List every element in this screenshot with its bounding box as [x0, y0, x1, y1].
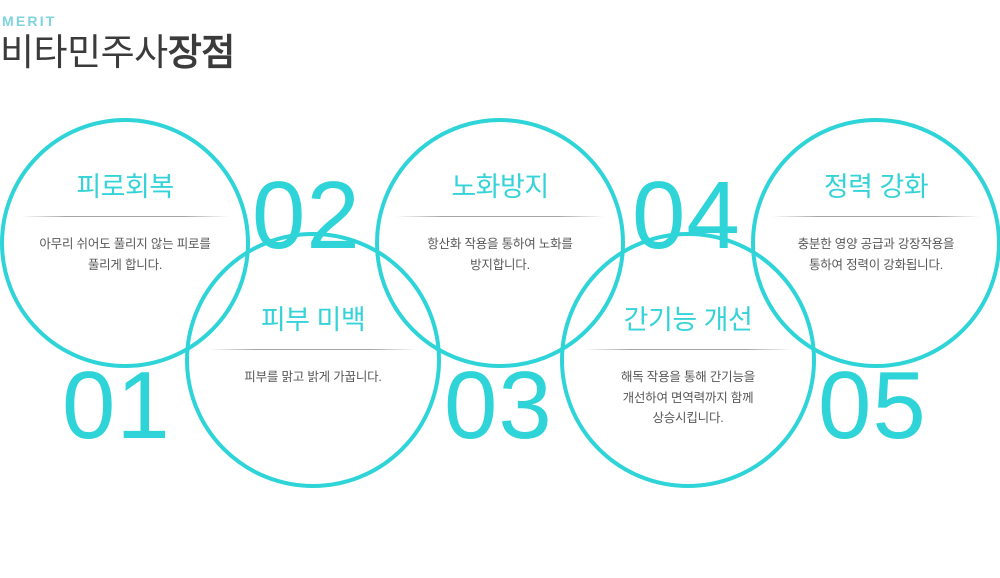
step-number-05: 05 — [818, 358, 927, 454]
benefit-description-4: 해독 작용을 통해 간기능을개선하여 면역력까지 함께상승시킵니다. — [572, 367, 804, 429]
benefit-card-2: 피부 미백 피부를 맑고 밝게 가꿉니다. — [198, 305, 428, 388]
benefit-title-5: 정력 강화 — [760, 172, 992, 203]
benefit-title-4: 간기능 개선 — [572, 305, 804, 336]
infographic-canvas: MERIT 비타민주사장점 01 02 03 04 05 피로회복 아무리 쉬어… — [0, 0, 1000, 578]
benefit-card-1: 피로회복 아무리 쉬어도 풀리지 않는 피로를풀리게 합니다. — [10, 172, 240, 275]
step-number-04: 04 — [632, 168, 741, 264]
step-number-02: 02 — [252, 168, 361, 264]
benefit-description-1: 아무리 쉬어도 풀리지 않는 피로를풀리게 합니다. — [10, 234, 240, 275]
benefit-description-3: 항산화 작용을 통하여 노화를방지합니다. — [385, 234, 615, 275]
benefit-title-2: 피부 미백 — [198, 305, 428, 336]
benefit-card-3: 노화방지 항산화 작용을 통하여 노화를방지합니다. — [385, 172, 615, 275]
benefit-title-1: 피로회복 — [10, 172, 240, 203]
benefit-card-5: 정력 강화 충분한 영양 공급과 강장작용을통하여 정력이 강화됩니다. — [760, 172, 992, 275]
benefit-divider-2 — [209, 349, 417, 350]
benefit-divider-3 — [396, 216, 604, 217]
benefit-description-5: 충분한 영양 공급과 강장작용을통하여 정력이 강화됩니다. — [760, 234, 992, 275]
benefit-description-2: 피부를 맑고 밝게 가꿉니다. — [198, 367, 428, 388]
benefit-divider-5 — [772, 216, 980, 217]
benefit-divider-1 — [21, 216, 229, 217]
benefit-card-4: 간기능 개선 해독 작용을 통해 간기능을개선하여 면역력까지 함께상승시킵니다… — [572, 305, 804, 429]
step-number-03: 03 — [444, 358, 553, 454]
step-number-01: 01 — [62, 358, 171, 454]
benefit-title-3: 노화방지 — [385, 172, 615, 203]
benefit-divider-4 — [584, 349, 792, 350]
circle-ring-group — [0, 0, 1000, 578]
